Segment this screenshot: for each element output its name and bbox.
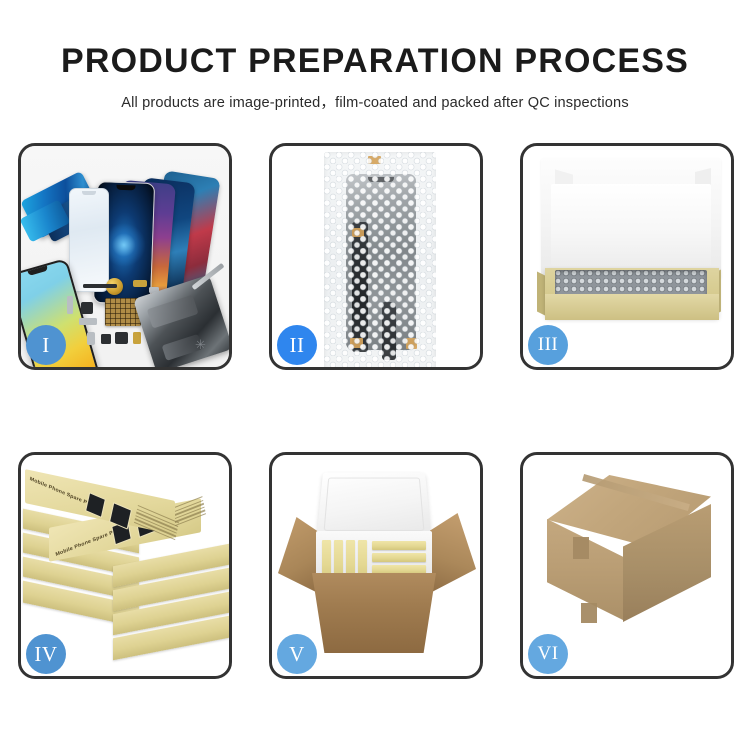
battery-connector-icon bbox=[133, 332, 141, 344]
carton-body-icon bbox=[312, 573, 436, 653]
product-preparation-process-page: PRODUCT PREPARATION PROCESS All products… bbox=[0, 0, 750, 750]
step-panel-5: V bbox=[269, 452, 483, 679]
camera-module-icon bbox=[81, 302, 93, 314]
step-panel-2: II bbox=[269, 143, 483, 370]
step-numeral-badge-2: II bbox=[277, 325, 317, 365]
step-numeral-badge-4: IV bbox=[26, 634, 66, 674]
metal-shield-icon bbox=[79, 318, 97, 325]
page-title: PRODUCT PREPARATION PROCESS bbox=[0, 0, 750, 78]
printed-screen-thumb bbox=[85, 492, 106, 518]
step-4-image: Mobile Phone Spare Parts Mobile Phone Sp… bbox=[21, 455, 229, 676]
screws-icon: ✳ bbox=[195, 341, 215, 357]
bubble-wrap-bag-icon bbox=[324, 152, 436, 367]
step-numeral-badge-5: V bbox=[277, 634, 317, 674]
carton-tape-upper-icon bbox=[573, 537, 589, 559]
flex-cable-icon bbox=[83, 284, 117, 288]
step-panel-1: ✳ I bbox=[18, 143, 232, 370]
step-numeral-badge-3: III bbox=[528, 325, 568, 365]
step-3-image: III bbox=[523, 146, 731, 367]
bubble-texture-icon bbox=[324, 152, 436, 367]
page-subtitle: All products are image-printed，film-coat… bbox=[0, 78, 750, 112]
header: PRODUCT PREPARATION PROCESS All products… bbox=[0, 0, 750, 112]
carton-tape-lower-icon bbox=[581, 603, 597, 623]
sim-tray-icon bbox=[87, 332, 95, 345]
step-5-image: V bbox=[272, 455, 480, 676]
carton-flap-right-icon bbox=[430, 513, 476, 593]
packed-box bbox=[372, 541, 426, 550]
step-1-image: ✳ I bbox=[21, 146, 229, 367]
step-2-image: II bbox=[272, 146, 480, 367]
step-numeral-badge-6: VI bbox=[528, 634, 568, 674]
foam-lid-icon bbox=[317, 472, 432, 537]
step-numeral-badge-1: I bbox=[26, 325, 66, 365]
step-6-image: VI bbox=[523, 455, 731, 676]
packed-box bbox=[372, 553, 426, 562]
step-panel-6: VI bbox=[520, 452, 734, 679]
packed-box bbox=[372, 565, 426, 574]
step-panel-4: Mobile Phone Spare Parts Mobile Phone Sp… bbox=[18, 452, 232, 679]
volume-button-icon bbox=[67, 296, 73, 314]
process-step-grid: ✳ I II bbox=[18, 143, 733, 678]
kraft-tray-front-icon bbox=[545, 294, 719, 320]
gold-connector-icon bbox=[133, 280, 147, 287]
step-panel-3: III bbox=[520, 143, 734, 370]
speaker-icon bbox=[101, 334, 111, 344]
taptic-engine-icon bbox=[115, 332, 128, 344]
tempered-glass-icon bbox=[69, 188, 109, 292]
foam-sheet-icon bbox=[551, 184, 711, 266]
